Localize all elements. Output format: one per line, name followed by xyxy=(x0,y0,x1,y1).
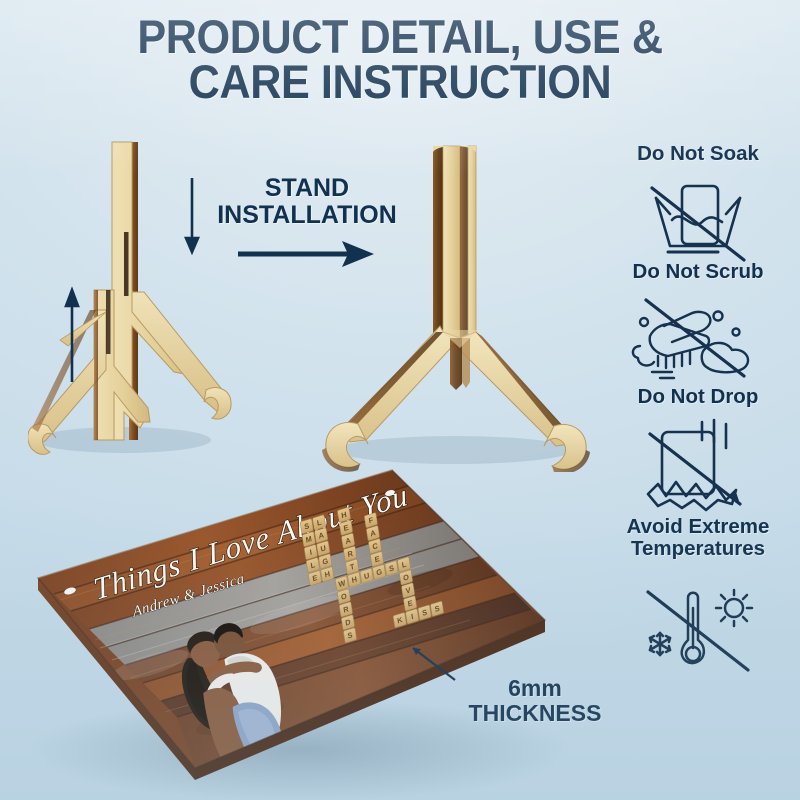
thickness-label: 6mm THICKNESS xyxy=(455,676,615,726)
infographic-canvas: Things I Love About You Andrew & Jessica xyxy=(0,0,800,800)
wooden-plaque-product: Things I Love About You Andrew & Jessica xyxy=(0,450,640,800)
arrow-right-icon xyxy=(236,237,376,271)
no-soak-icon xyxy=(640,172,754,266)
care-label-do-not-scrub: Do Not Scrub xyxy=(600,261,796,283)
page-title: PRODUCT DETAIL, USE & CARE INSTRUCTION xyxy=(32,14,768,104)
care-label-do-not-drop: Do Not Drop xyxy=(600,386,796,408)
no-drop-icon xyxy=(640,418,762,514)
no-extreme-temperature-icon xyxy=(640,582,762,674)
no-scrub-icon xyxy=(628,292,760,380)
care-label-avoid-extreme-temperatures: Avoid Extreme Temperatures xyxy=(596,516,800,560)
stand-installation-label: STAND INSTALLATION xyxy=(192,175,422,229)
care-label-do-not-soak: Do Not Soak xyxy=(600,143,796,165)
